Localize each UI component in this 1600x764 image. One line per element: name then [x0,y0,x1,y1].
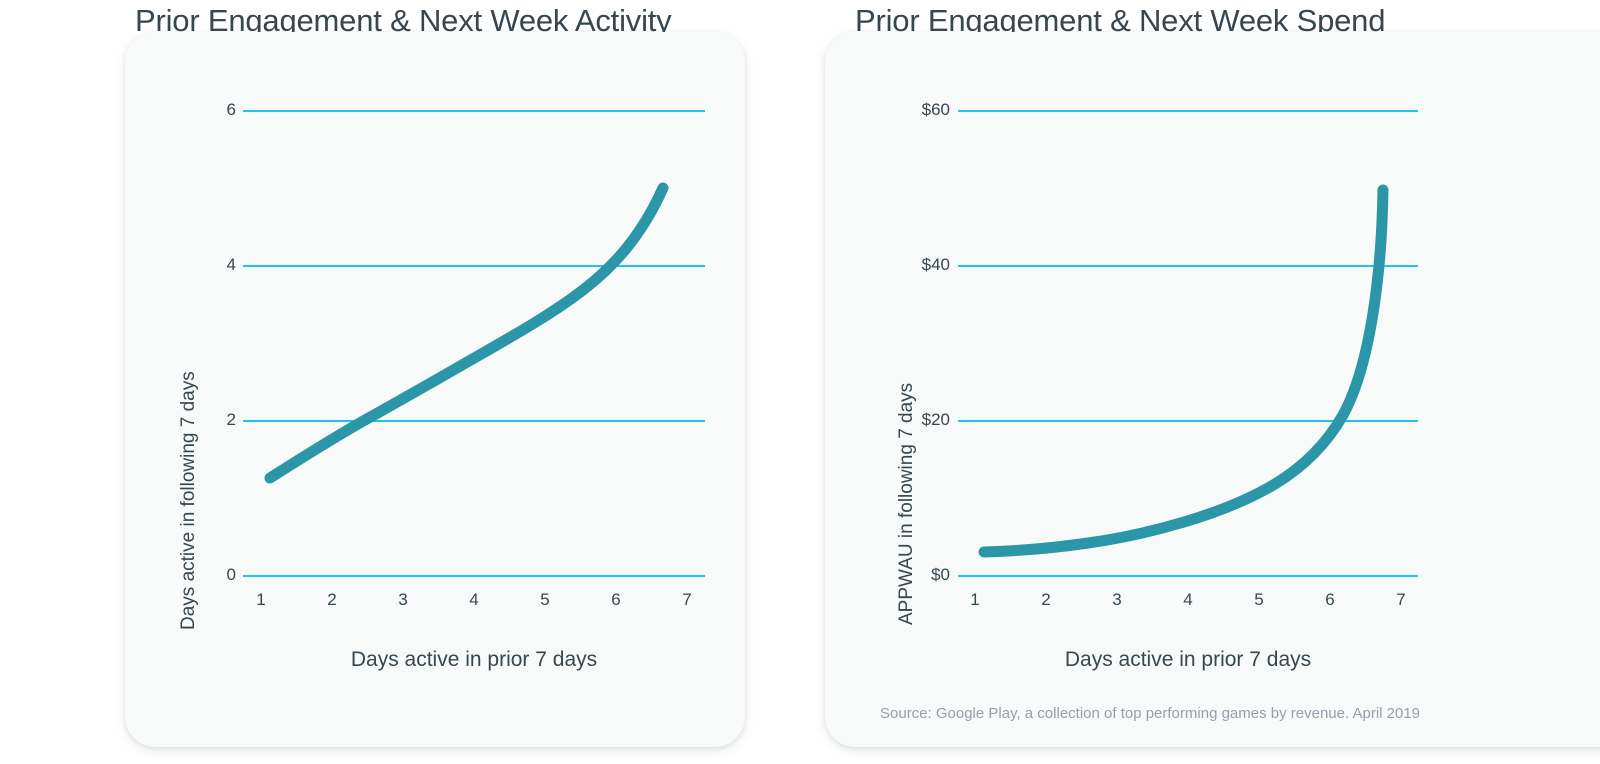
xtick-label-activity-4: 4 [459,590,489,610]
gridline-0 [243,575,705,577]
ytick-label-activity-4: 4 [176,255,236,275]
xtick-label-activity-1: 1 [246,590,276,610]
xtick-label-spend-7: 7 [1386,590,1416,610]
spend-curve [958,110,1418,575]
xtick-label-spend-1: 1 [960,590,990,610]
plot-area-activity [243,110,705,575]
x-axis-title-spend: Days active in prior 7 days [958,648,1418,672]
xtick-label-activity-5: 5 [530,590,560,610]
xtick-label-spend-6: 6 [1315,590,1345,610]
ytick-label-spend-40: $40 [880,255,950,275]
activity-curve [243,110,705,575]
plot-area-spend [958,110,1418,575]
xtick-label-activity-2: 2 [317,590,347,610]
xtick-label-activity-3: 3 [388,590,418,610]
xtick-label-spend-5: 5 [1244,590,1274,610]
y-axis-title-spend: APPWAU in following 7 days [896,383,918,625]
ytick-label-activity-6: 6 [176,100,236,120]
source-note: Source: Google Play, a collection of top… [880,705,1420,722]
xtick-label-spend-3: 3 [1102,590,1132,610]
xtick-label-spend-4: 4 [1173,590,1203,610]
xtick-label-spend-2: 2 [1031,590,1061,610]
charts-stage: Prior Engagement & Next Week Activity 6 … [0,0,1600,764]
y-axis-title-activity: Days active in following 7 days [178,371,200,630]
ytick-label-spend-60: $60 [880,100,950,120]
gridline-0 [958,575,1418,577]
xtick-label-activity-7: 7 [672,590,702,610]
x-axis-title-activity: Days active in prior 7 days [243,648,705,672]
xtick-label-activity-6: 6 [601,590,631,610]
